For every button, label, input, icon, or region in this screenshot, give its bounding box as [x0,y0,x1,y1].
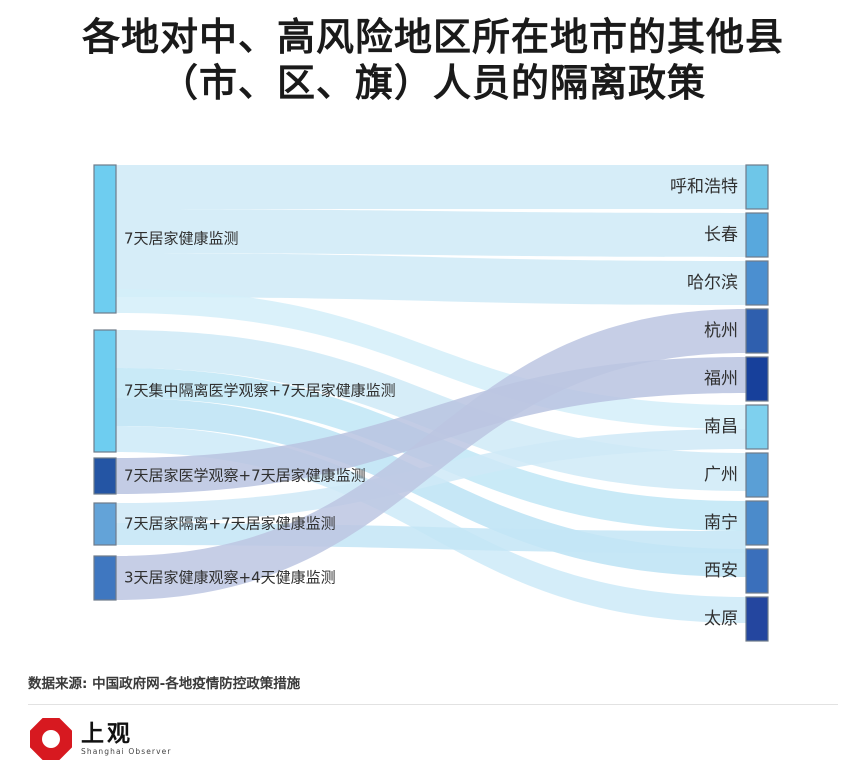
sankey-right-label-0: 呼和浩特 [670,177,738,197]
sankey-node-right-6[interactable] [746,453,768,497]
sankey-chart: 7天居家健康监测7天集中隔离医学观察+7天居家健康监测7天居家医学观察+7天居家… [0,0,866,779]
octagon-logo-icon [30,718,72,760]
brand-logo: 上观 Shanghai Observer [30,718,172,760]
sankey-node-right-4[interactable] [746,357,768,401]
sankey-svg: 7天居家健康监测7天集中隔离医学观察+7天居家健康监测7天居家医学观察+7天居家… [0,0,866,779]
sankey-left-label-4: 3天居家健康观察+4天健康监测 [124,569,336,587]
brand-name-en: Shanghai Observer [81,747,172,757]
sankey-node-right-3[interactable] [746,309,768,353]
sankey-node-right-5[interactable] [746,405,768,449]
sankey-right-label-8: 西安 [704,561,738,581]
sankey-link [116,165,746,209]
sankey-node-left-2[interactable] [94,458,116,494]
sankey-right-label-7: 南宁 [704,513,738,533]
sankey-left-label-3: 7天居家隔离+7天居家健康监测 [124,515,336,533]
data-source-note: 数据来源: 中国政府网-各地疫情防控政策措施 [28,672,300,692]
brand-logo-text: 上观 Shanghai Observer [81,722,172,757]
sankey-node-left-3[interactable] [94,503,116,545]
sankey-node-right-9[interactable] [746,597,768,641]
sankey-right-label-5: 南昌 [704,417,738,437]
footer-divider [28,704,838,705]
sankey-node-right-2[interactable] [746,261,768,305]
sankey-left-label-0: 7天居家健康监测 [124,230,239,248]
brand-name-cn: 上观 [81,722,172,747]
sankey-node-right-7[interactable] [746,501,768,545]
sankey-right-label-2: 哈尔滨 [687,273,738,293]
sankey-left-label-1: 7天集中隔离医学观察+7天居家健康监测 [124,382,396,400]
sankey-right-label-1: 长春 [704,225,738,245]
sankey-node-right-1[interactable] [746,213,768,257]
sankey-node-left-1[interactable] [94,330,116,452]
sankey-node-left-0[interactable] [94,165,116,313]
sankey-right-label-3: 杭州 [704,321,738,341]
sankey-node-right-0[interactable] [746,165,768,209]
sankey-node-right-8[interactable] [746,549,768,593]
sankey-left-label-2: 7天居家医学观察+7天居家健康监测 [124,467,366,485]
sankey-right-label-9: 太原 [704,609,738,629]
sankey-right-label-4: 福州 [704,369,738,389]
sankey-right-label-6: 广州 [704,465,738,485]
sankey-node-left-4[interactable] [94,556,116,600]
